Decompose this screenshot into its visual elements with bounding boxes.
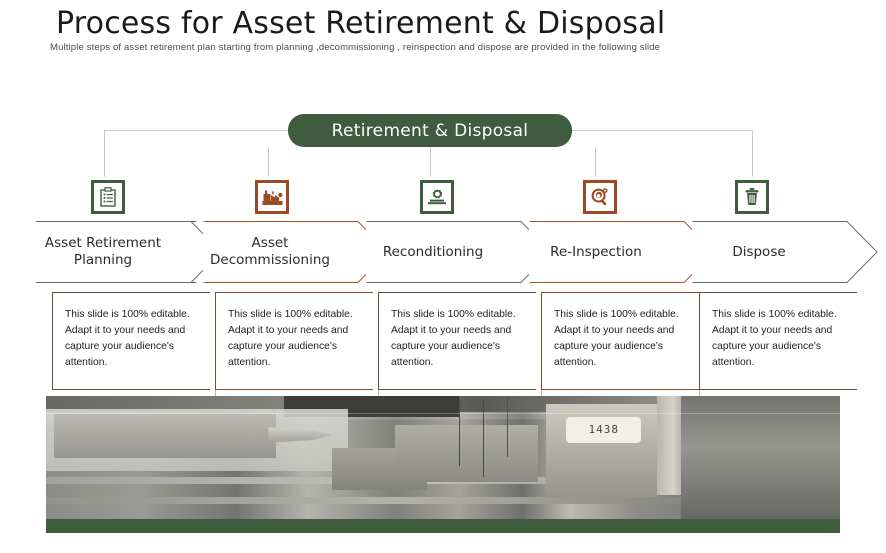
connector-vertical-step-1 bbox=[104, 130, 105, 177]
step-label-5: Dispose bbox=[692, 221, 852, 283]
connector-vertical-step-3 bbox=[430, 147, 431, 177]
trash-bin-icon bbox=[743, 187, 761, 207]
step-body-text-1: This slide is 100% editable. Adapt it to… bbox=[53, 293, 210, 371]
step-body-text-3: This slide is 100% editable. Adapt it to… bbox=[379, 293, 536, 371]
clipboard-checklist-icon bbox=[99, 187, 117, 207]
step-body-card-4: This slide is 100% editable. Adapt it to… bbox=[541, 292, 699, 390]
step-body-text-4: This slide is 100% editable. Adapt it to… bbox=[542, 293, 699, 371]
step-chevron-4[interactable]: Re-Inspection bbox=[529, 221, 689, 283]
connector-vertical-step-4 bbox=[595, 147, 596, 177]
page-title: Process for Asset Retirement & Disposal bbox=[56, 6, 665, 41]
step-icon-box-2[interactable] bbox=[255, 180, 289, 214]
step-body-card-2: This slide is 100% editable. Adapt it to… bbox=[215, 292, 373, 390]
connector-horizontal bbox=[570, 130, 752, 131]
magnifier-gear-icon bbox=[590, 187, 610, 207]
step-body-card-1: This slide is 100% editable. Adapt it to… bbox=[52, 292, 210, 390]
page-subtitle: Multiple steps of asset retirement plan … bbox=[50, 42, 660, 53]
factory-machinery-icon bbox=[262, 188, 283, 206]
step-body-card-5: This slide is 100% editable. Adapt it to… bbox=[699, 292, 857, 390]
step-icon-box-1[interactable] bbox=[91, 180, 125, 214]
step-body-card-3: This slide is 100% editable. Adapt it to… bbox=[378, 292, 536, 390]
photo-overlay bbox=[46, 396, 840, 526]
machinery-photo: 1438 bbox=[46, 396, 840, 526]
step-body-text-5: This slide is 100% editable. Adapt it to… bbox=[700, 293, 857, 371]
step-body-text-2: This slide is 100% editable. Adapt it to… bbox=[216, 293, 373, 371]
step-label-1: Asset Retirement Planning bbox=[36, 221, 196, 283]
banner-retirement-disposal[interactable]: Retirement & Disposal bbox=[288, 114, 572, 147]
connector-vertical-step-5 bbox=[752, 130, 753, 177]
step-chevron-1[interactable]: Asset Retirement Planning bbox=[36, 221, 196, 283]
step-chevron-2[interactable]: Asset Decommissioning bbox=[203, 221, 363, 283]
bottom-green-bar bbox=[46, 519, 840, 533]
step-icon-box-4[interactable] bbox=[583, 180, 617, 214]
connector-horizontal bbox=[104, 130, 290, 131]
step-label-4: Re-Inspection bbox=[529, 221, 689, 283]
step-chevron-3[interactable]: Reconditioning bbox=[366, 221, 526, 283]
step-label-3: Reconditioning bbox=[366, 221, 526, 283]
gear-machine-icon bbox=[427, 187, 447, 207]
step-icon-box-3[interactable] bbox=[420, 180, 454, 214]
connector-vertical-step-2 bbox=[268, 147, 269, 177]
banner-label: Retirement & Disposal bbox=[332, 121, 529, 141]
step-label-2: Asset Decommissioning bbox=[203, 221, 363, 283]
step-icon-box-5[interactable] bbox=[735, 180, 769, 214]
slide-canvas: Process for Asset Retirement & Disposal … bbox=[0, 0, 886, 553]
step-chevron-5[interactable]: Dispose bbox=[692, 221, 852, 283]
